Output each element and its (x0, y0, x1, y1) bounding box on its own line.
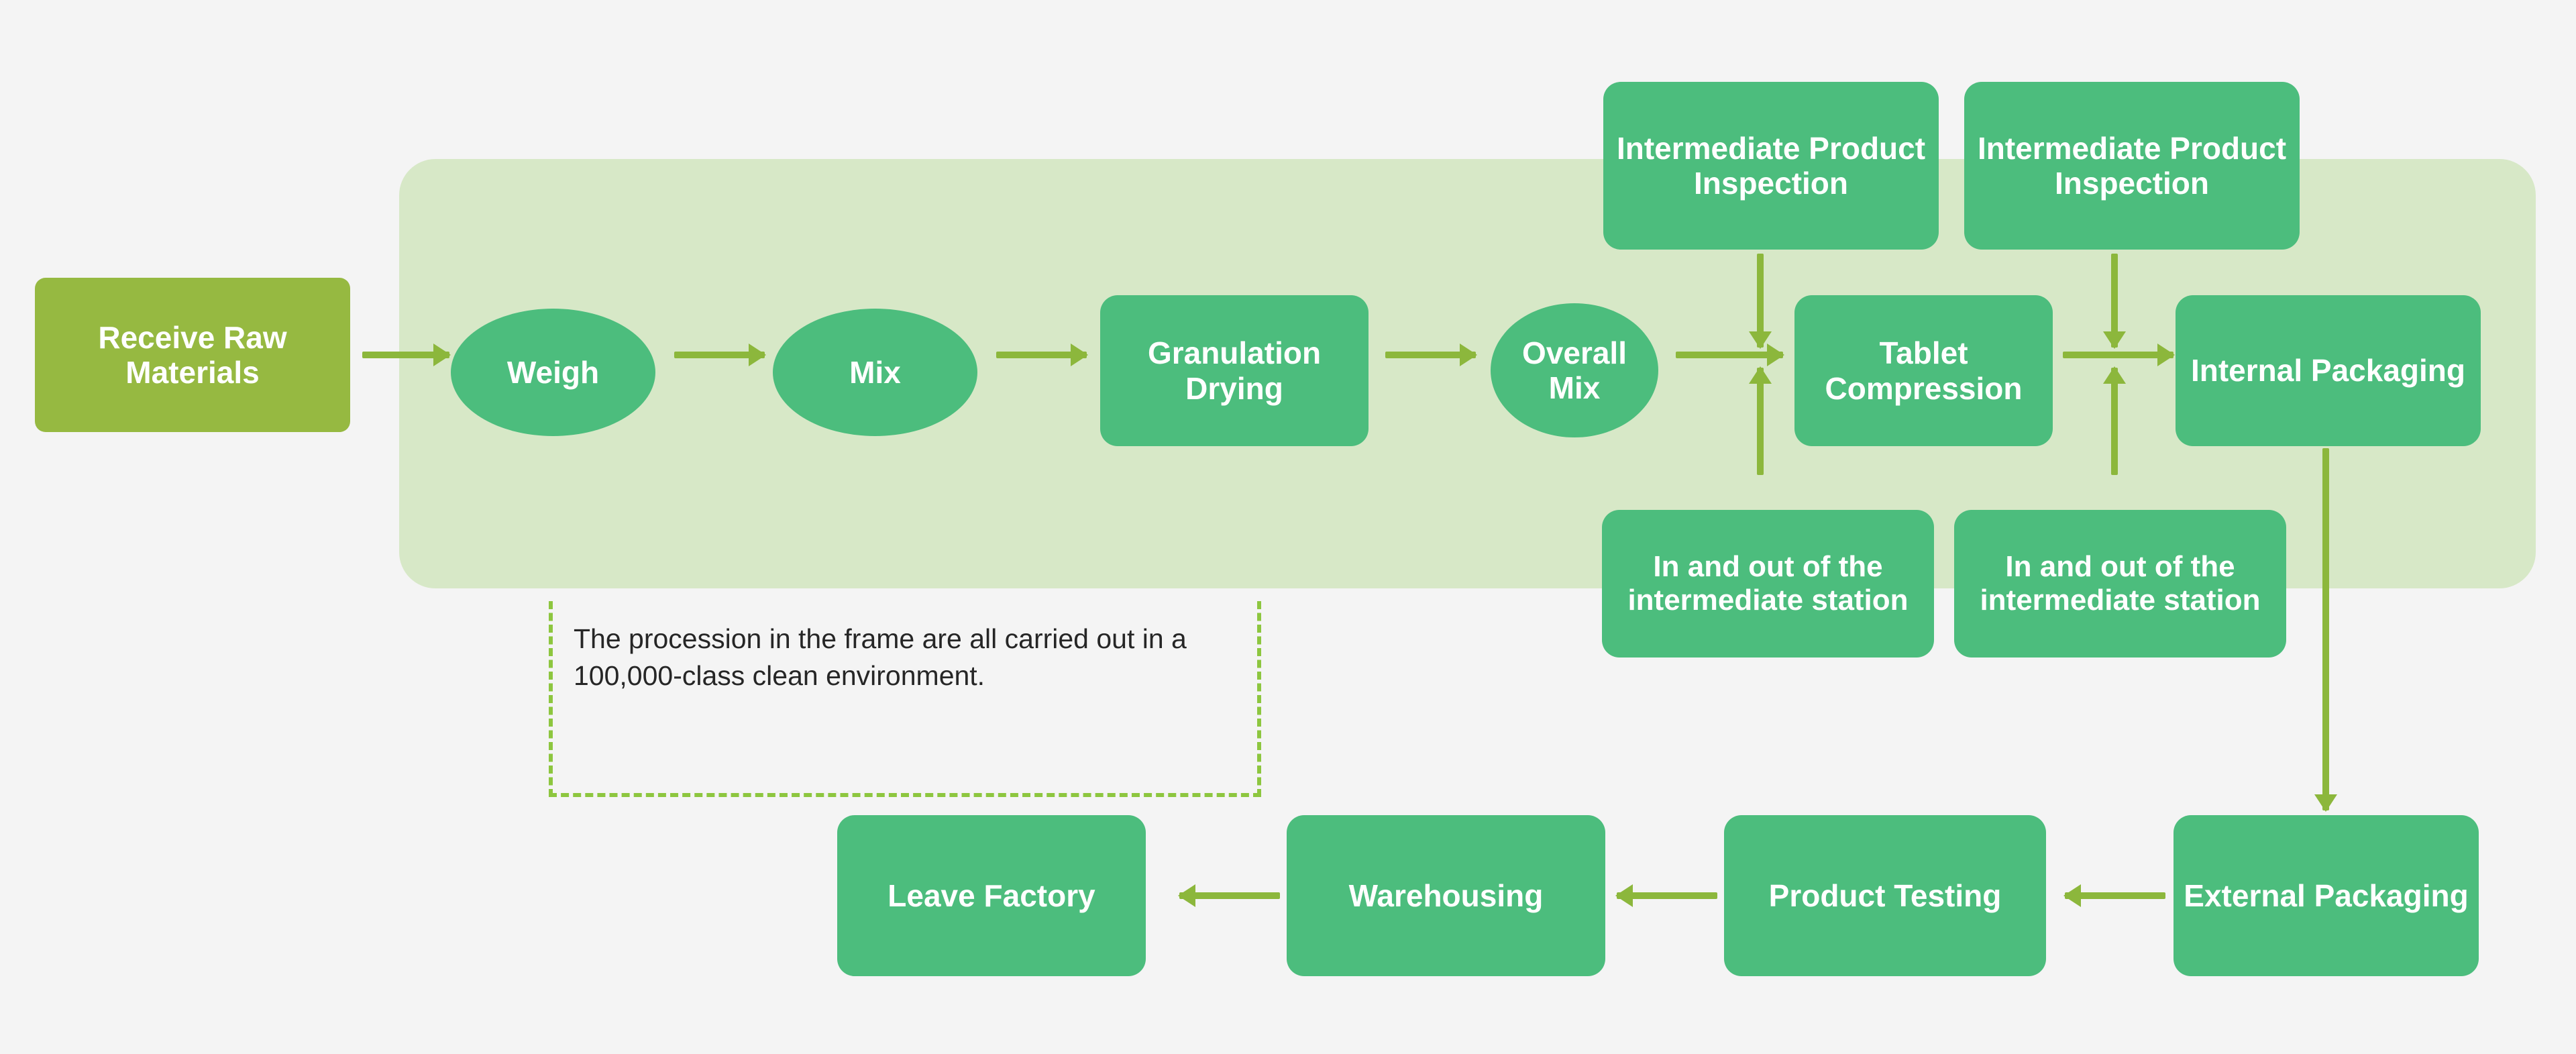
node-intermediate-product-inspection-2[interactable]: Intermediate Product Inspection (1964, 82, 2300, 250)
arrow-internal-packaging-to-external-packaging (2314, 448, 2337, 810)
arrow-product-testing-to-warehousing (1617, 886, 1717, 906)
flowchart-canvas: Receive Raw Materials Weigh Mix Granulat… (0, 0, 2576, 1054)
node-tablet-compression[interactable]: Tablet Compression (1794, 295, 2053, 446)
node-leave-factory[interactable]: Leave Factory (837, 815, 1146, 976)
node-in-out-intermediate-station-2[interactable]: In and out of the intermediate station (1954, 510, 2286, 657)
node-mix[interactable]: Mix (773, 309, 977, 436)
node-external-packaging[interactable]: External Packaging (2173, 815, 2479, 976)
node-granulation-drying[interactable]: Granulation Drying (1100, 295, 1368, 446)
node-receive-raw-materials[interactable]: Receive Raw Materials (35, 278, 350, 432)
node-intermediate-product-inspection-1[interactable]: Intermediate Product Inspection (1603, 82, 1939, 250)
node-weigh[interactable]: Weigh (451, 309, 655, 436)
arrow-raw-materials-to-weigh (362, 345, 449, 365)
arrow-inspection-1-to-tablet-compression (1749, 254, 1772, 348)
arrow-granulation-drying-to-overall-mix (1385, 345, 1476, 365)
arrow-external-packaging-to-product-testing (2065, 886, 2165, 906)
arrow-inspection-2-to-internal-packaging (2103, 254, 2126, 348)
node-internal-packaging[interactable]: Internal Packaging (2176, 295, 2481, 446)
arrow-mix-to-granulation-drying (996, 345, 1087, 365)
arrow-weigh-to-mix (674, 345, 765, 365)
node-in-out-intermediate-station-1[interactable]: In and out of the intermediate station (1602, 510, 1934, 657)
node-product-testing[interactable]: Product Testing (1724, 815, 2046, 976)
arrow-warehousing-to-leave-factory (1179, 886, 1280, 906)
clean-room-note-text: The procession in the frame are all carr… (574, 621, 1238, 694)
node-warehousing[interactable]: Warehousing (1287, 815, 1605, 976)
arrow-station-2-to-internal-packaging (2103, 368, 2126, 475)
node-overall-mix[interactable]: Overall Mix (1491, 303, 1658, 437)
arrow-station-1-to-tablet-compression (1749, 368, 1772, 475)
